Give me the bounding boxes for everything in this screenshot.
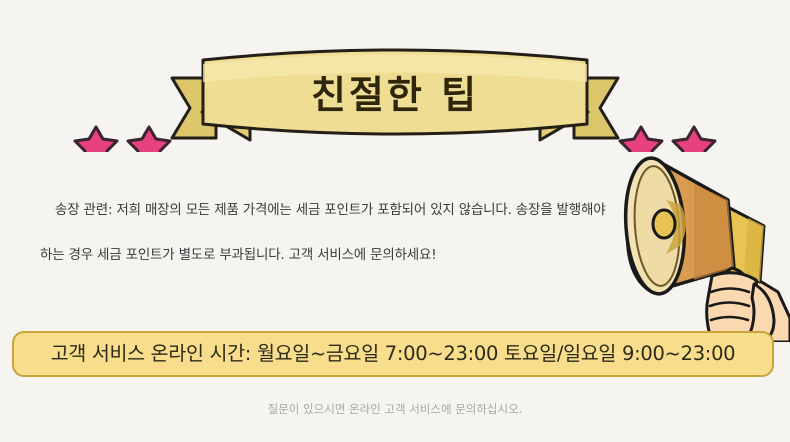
promo-banner-page: 친절한 팁 송장 관련: 저희 매장의 모든 제품 가격에는 세금 포인트가 포… (0, 0, 790, 442)
megaphone-driver (653, 210, 675, 238)
ribbon-header (0, 42, 790, 152)
service-hours-text: 고객 서비스 온라인 시간: 월요일~금요일 7:00~23:00 토요일/일요… (51, 344, 736, 364)
service-hours-bar: 고객 서비스 온라인 시간: 월요일~금요일 7:00~23:00 토요일/일요… (12, 331, 774, 377)
megaphone-illustration (608, 142, 790, 342)
star-icon (75, 127, 117, 152)
footer-note: 질문이 있으시면 온라인 고객 서비스에 문의하십시오. (0, 398, 790, 417)
megaphone-icon (608, 142, 790, 342)
ribbon-graphic (0, 42, 790, 152)
notice-line-2: 하는 경우 세금 포인트가 별도로 부과됩니다. 고객 서비스에 문의하세요! (40, 233, 640, 278)
notice-paragraph: 송장 관련: 저희 매장의 모든 제품 가격에는 세금 포인트가 포함되어 있지… (40, 188, 640, 278)
star-icon (128, 127, 170, 152)
footer-note-text: 질문이 있으시면 온라인 고객 서비스에 문의하십시오. (268, 402, 523, 416)
notice-line-1: 송장 관련: 저희 매장의 모든 제품 가격에는 세금 포인트가 포함되어 있지… (40, 188, 640, 233)
